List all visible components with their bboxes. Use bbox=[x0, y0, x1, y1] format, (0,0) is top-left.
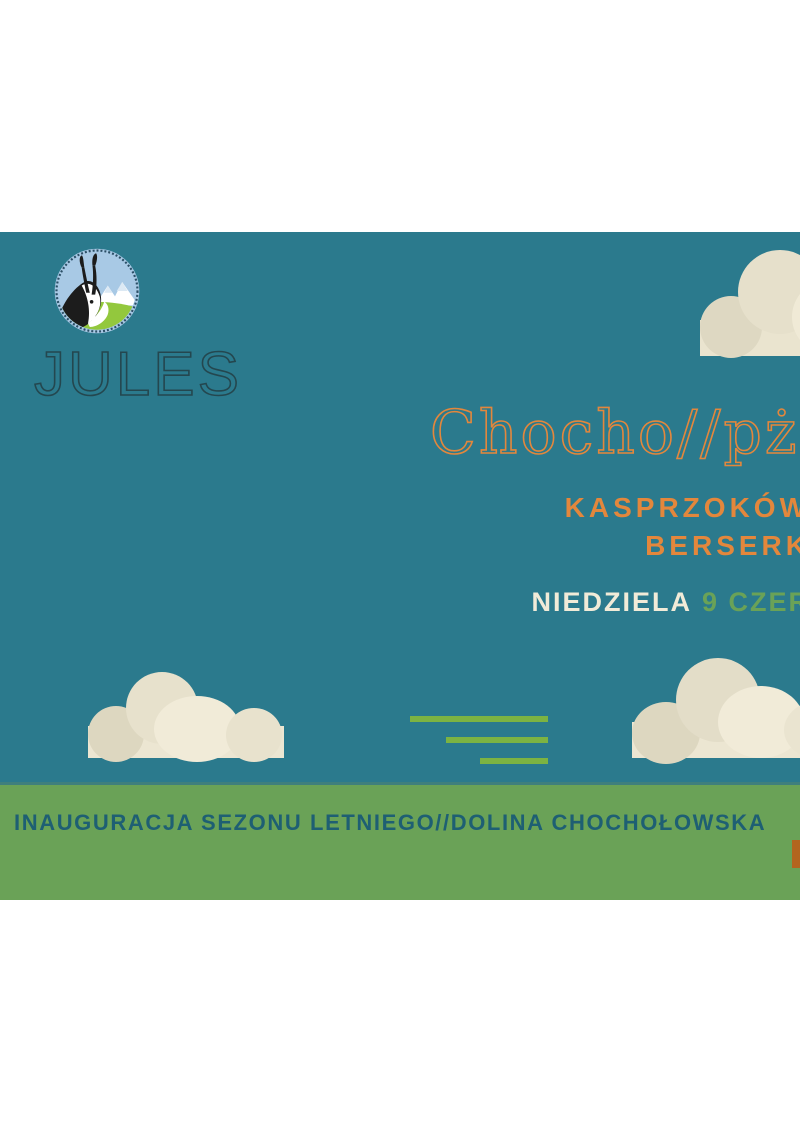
poster-canvas: JULES Chocho//pż KASPRZOKÓW BERSERK NIED… bbox=[0, 0, 800, 1132]
decorative-rule-1 bbox=[410, 716, 548, 722]
cloud-puff bbox=[700, 296, 762, 358]
cloud-puff bbox=[792, 280, 800, 354]
headline-block: Chocho//pż KASPRZOKÓW BERSERK NIEDZIELA9… bbox=[430, 402, 800, 618]
decorative-rules bbox=[268, 716, 548, 764]
cloud-puff bbox=[88, 706, 144, 762]
cloud-puff bbox=[154, 696, 240, 762]
cloud-puff bbox=[784, 700, 800, 760]
event-subtitle-line-2: BERSERK bbox=[430, 527, 800, 565]
cloud-base bbox=[88, 726, 284, 758]
event-subtitle: KASPRZOKÓW BERSERK bbox=[430, 489, 800, 565]
event-date-line: NIEDZIELA9 CZER bbox=[430, 587, 800, 618]
band-accent-mark bbox=[792, 840, 800, 868]
band-top-rule bbox=[0, 782, 800, 785]
event-date-value: 9 CZER bbox=[702, 587, 800, 617]
chamois-mountain-badge-icon bbox=[52, 246, 142, 336]
bottom-caption-band: INAUGURACJA SEZONU LETNIEGO//DOLINA CHOC… bbox=[0, 782, 800, 900]
band-caption: INAUGURACJA SEZONU LETNIEGO//DOLINA CHOC… bbox=[14, 810, 766, 836]
cloud-base bbox=[632, 722, 800, 758]
cloud-puff bbox=[676, 658, 760, 742]
cloud-puff bbox=[718, 686, 800, 758]
brand-wordmark: JULES bbox=[28, 344, 228, 406]
event-subtitle-line-1: KASPRZOKÓW bbox=[430, 489, 800, 527]
cloud-bottom-left-icon bbox=[88, 670, 284, 758]
cloud-bottom-right-icon bbox=[632, 654, 800, 758]
decorative-rule-3 bbox=[480, 758, 548, 764]
brand-block: JULES bbox=[28, 246, 228, 406]
cloud-base bbox=[700, 320, 800, 356]
cloud-puff bbox=[632, 702, 700, 764]
event-title: Chocho//pż bbox=[430, 402, 800, 465]
decorative-rule-2 bbox=[446, 737, 548, 743]
cloud-top-right-icon bbox=[700, 250, 800, 356]
cloud-puff bbox=[738, 250, 800, 334]
cloud-puff bbox=[126, 672, 198, 744]
event-date-weekday: NIEDZIELA bbox=[531, 587, 692, 617]
